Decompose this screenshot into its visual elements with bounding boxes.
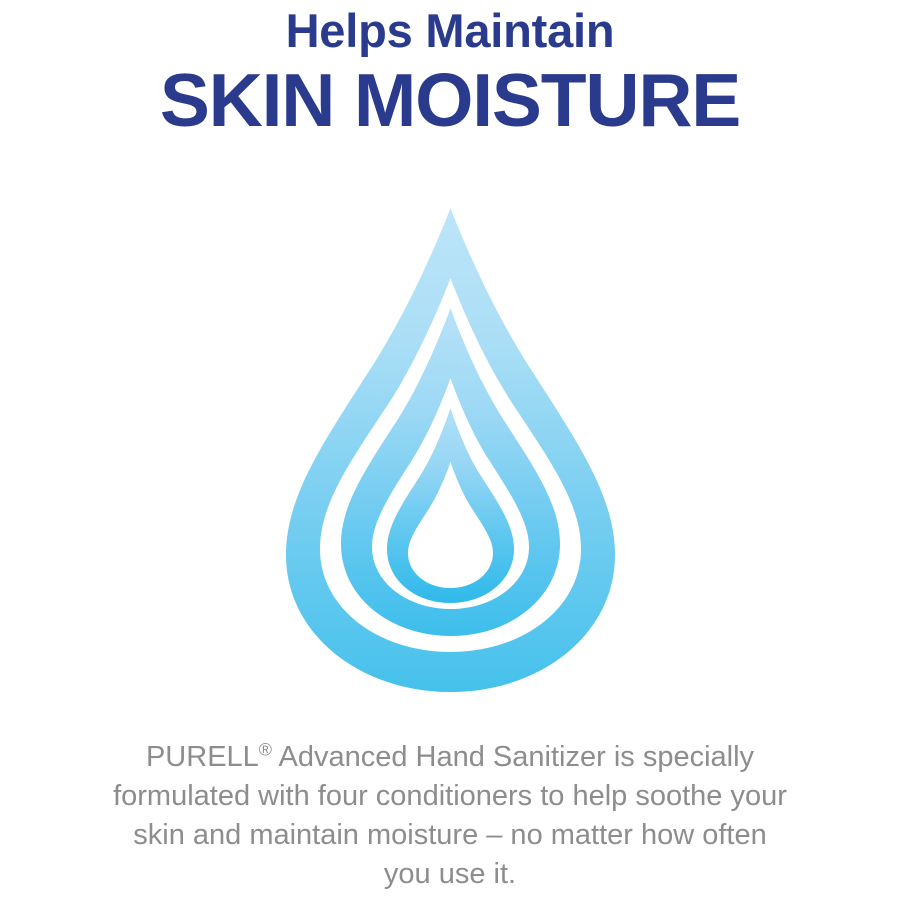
marketing-image: Helps Maintain SKIN MOISTURE — [0, 0, 900, 900]
body-copy-line-1: PURELL® Advanced Hand Sanitizer is speci… — [50, 738, 850, 777]
headline-line-1: Helps Maintain — [0, 0, 900, 57]
headline-block: Helps Maintain SKIN MOISTURE — [0, 0, 900, 140]
body-copy-line-2: formulated with four conditioners to hel… — [50, 777, 850, 816]
registered-trademark-symbol: ® — [259, 739, 272, 759]
body-copy-line-4: you use it. — [50, 855, 850, 894]
page-title: SKIN MOISTURE — [0, 57, 900, 140]
body-copy-line-1-rest: Advanced Hand Sanitizer is specially — [272, 741, 754, 773]
body-copy: PURELL® Advanced Hand Sanitizer is speci… — [50, 738, 850, 894]
droplet-ring-middle — [341, 308, 560, 636]
brand-name: PURELL — [146, 741, 259, 773]
droplet-graphic — [278, 200, 623, 700]
water-droplet-icon — [278, 200, 623, 700]
body-copy-line-3: skin and maintain moisture – no matter h… — [50, 816, 850, 855]
